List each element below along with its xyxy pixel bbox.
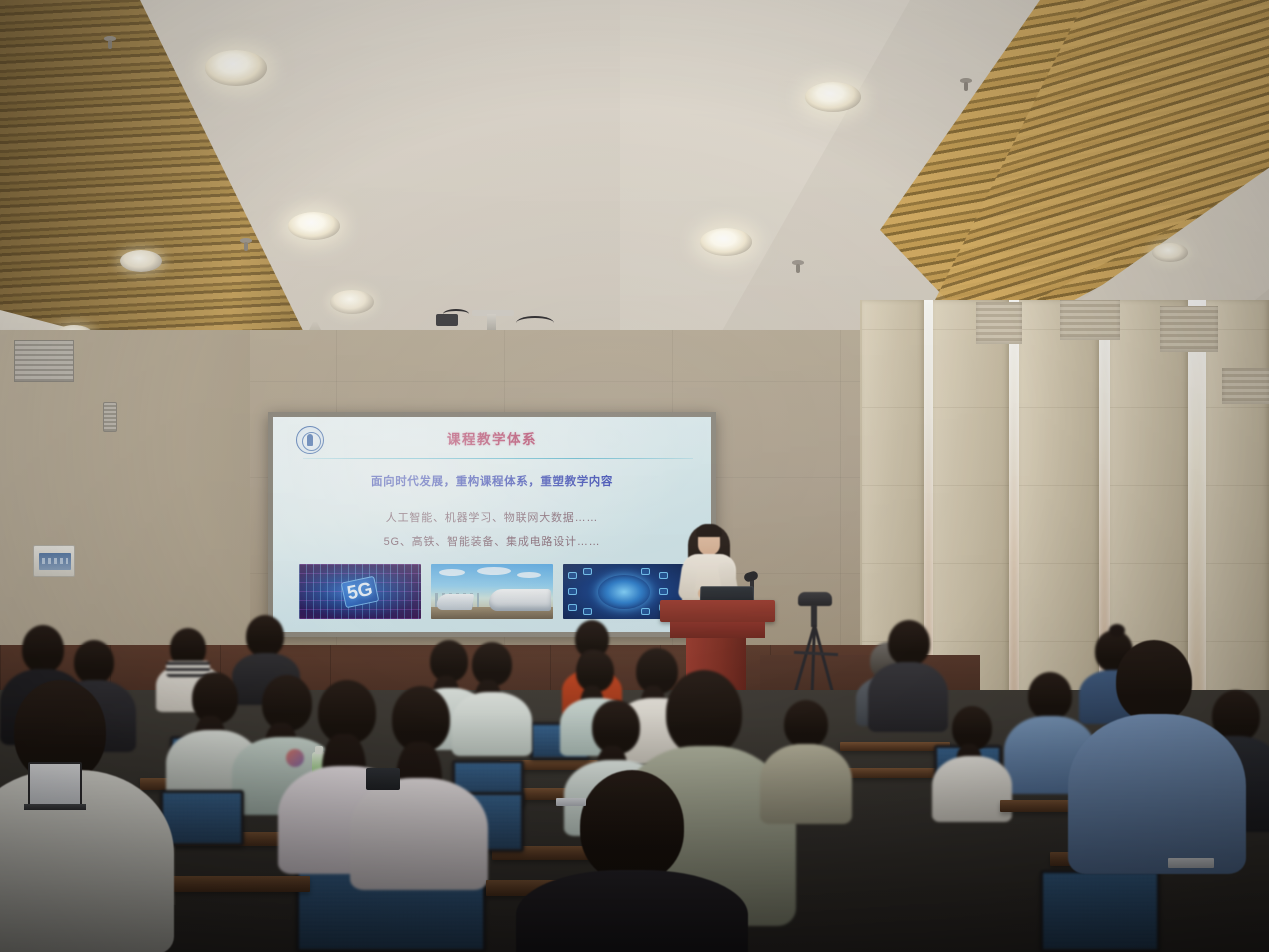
- network-node: [659, 572, 668, 579]
- cloud: [477, 567, 511, 575]
- slide-divider: [303, 458, 693, 459]
- head: [1116, 640, 1192, 722]
- downlight: [330, 290, 374, 314]
- network-node: [568, 604, 577, 611]
- slide-title: 课程教学体系: [273, 428, 711, 448]
- sprinkler-head: [104, 36, 116, 50]
- audience-member-foreground: [1090, 640, 1220, 870]
- network-node: [568, 572, 577, 579]
- hair-bun: [1109, 624, 1125, 637]
- network-node: [659, 588, 668, 595]
- train-body: [489, 589, 551, 611]
- sprinkler-head: [960, 78, 972, 92]
- high-speed-train-image: [431, 564, 553, 619]
- laptop-base: [24, 804, 86, 810]
- slide-image-row: [299, 564, 685, 619]
- control-panel-screen[interactable]: [39, 553, 71, 570]
- head: [246, 615, 284, 657]
- wall-control-panel[interactable]: [33, 545, 75, 577]
- projection-screen: 课程教学体系 面向时代发展，重构课程体系，重塑教学内容 人工智能、机器学习、物联…: [273, 417, 711, 632]
- head: [74, 640, 114, 684]
- downlight: [288, 212, 340, 240]
- sprinkler-head: [792, 260, 804, 274]
- audience-member: [460, 642, 522, 752]
- head: [1028, 672, 1072, 720]
- lecture-hall-photo: EPSON 课程教学体系 面向时代发展，重构课程体系，重塑教学内容 人工智能、机…: [0, 0, 1269, 952]
- projector-cable: [443, 309, 469, 319]
- chair[interactable]: [160, 790, 244, 846]
- wall-air-vent: [14, 340, 74, 382]
- audience-member-foreground: [0, 680, 144, 952]
- audience-member: [770, 700, 840, 820]
- brain-core: [598, 575, 650, 609]
- chair[interactable]: [1040, 870, 1160, 952]
- audience-member: [940, 706, 1002, 816]
- podium-top-surface: [660, 600, 775, 622]
- window-blind[interactable]: [1222, 368, 1269, 404]
- shoulders: [0, 770, 174, 952]
- downlight: [120, 250, 162, 272]
- head: [888, 620, 930, 666]
- downlight: [700, 228, 752, 256]
- notebook[interactable]: [1168, 858, 1214, 868]
- chip-square: [341, 575, 380, 608]
- head: [22, 625, 64, 673]
- shoulders: [516, 870, 748, 952]
- sprinkler-head: [240, 238, 252, 252]
- laptop-screen[interactable]: [366, 768, 400, 790]
- train-nose: [436, 594, 474, 610]
- network-node: [583, 568, 592, 575]
- cloud: [517, 572, 541, 578]
- network-node: [568, 588, 577, 595]
- shoulders: [932, 756, 1012, 822]
- shoulders: [868, 662, 948, 732]
- downlight: [1152, 243, 1188, 262]
- audience-member: [876, 620, 938, 730]
- head: [666, 670, 742, 756]
- network-node: [641, 608, 650, 615]
- window-blind[interactable]: [1060, 300, 1120, 340]
- slide-subtitle: 面向时代发展，重构课程体系，重塑教学内容: [273, 473, 711, 489]
- head: [580, 770, 684, 882]
- downlight: [805, 82, 861, 112]
- shoulders: [350, 778, 488, 890]
- slide-body-line-1: 人工智能、机器学习、物联网大数据……: [273, 509, 711, 525]
- notebook[interactable]: [556, 798, 586, 806]
- cloud: [439, 569, 465, 576]
- window-slit: [1009, 300, 1019, 720]
- 5g-chip-image: [299, 564, 421, 619]
- downlight: [205, 50, 267, 86]
- projector-cable: [516, 316, 554, 330]
- podium-mid: [670, 622, 765, 638]
- slide-body-line-2: 5G、高铁、智能装备、集成电路设计……: [273, 533, 711, 549]
- laptop[interactable]: [28, 762, 82, 806]
- shoulders: [1068, 714, 1246, 874]
- camera-head: [798, 592, 832, 606]
- wall-speaker: [103, 402, 117, 432]
- window-blind[interactable]: [1160, 306, 1218, 352]
- tripod-spreader: [794, 651, 838, 656]
- network-node: [641, 568, 650, 575]
- head: [784, 700, 828, 748]
- tripod-neck: [811, 605, 817, 627]
- shoulders: [760, 744, 852, 824]
- network-node: [583, 608, 592, 615]
- presenter-fringe: [696, 524, 722, 537]
- window-blind[interactable]: [976, 302, 1022, 344]
